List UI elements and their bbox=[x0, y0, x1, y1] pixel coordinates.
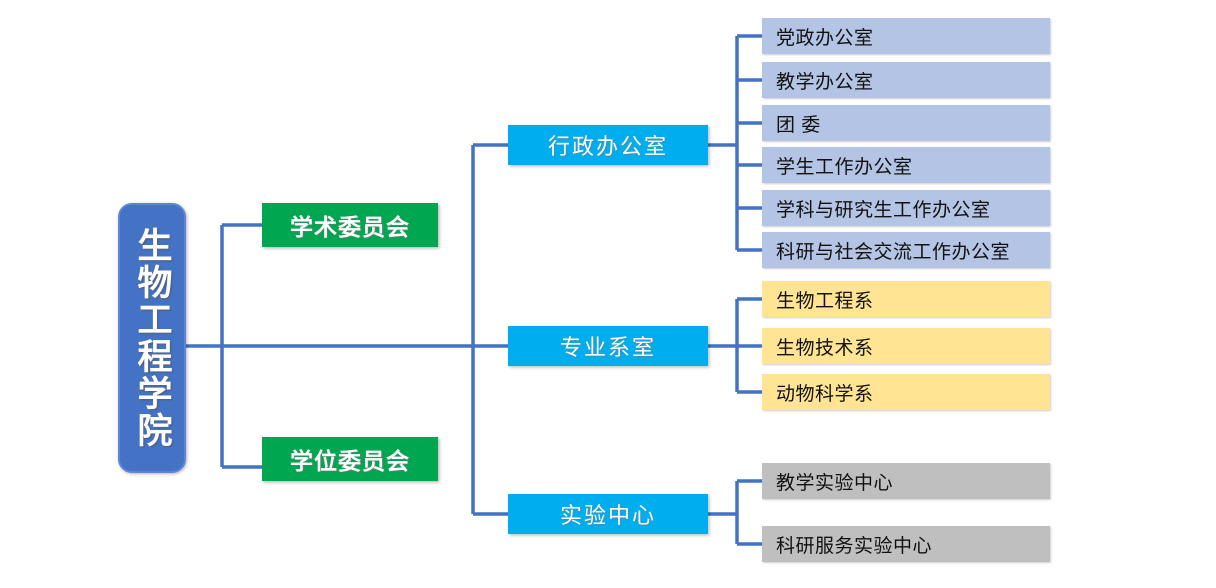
committee-node-degree-label: 学位委员会 bbox=[290, 442, 410, 476]
leaf-department-2[interactable]: 生物技术系 bbox=[762, 328, 1050, 364]
leaf-department-3-label: 动物科学系 bbox=[776, 379, 874, 406]
leaf-admin-6[interactable]: 科研与社会交流工作办公室 bbox=[762, 232, 1050, 268]
division-node-admin-office[interactable]: 行政办公室 bbox=[508, 125, 708, 165]
leaf-department-1-label: 生物工程系 bbox=[776, 286, 874, 313]
root-node-label: 生物工程学院 bbox=[135, 227, 170, 449]
leaf-lab-2-label: 科研服务实验中心 bbox=[776, 531, 932, 558]
leaf-department-2-label: 生物技术系 bbox=[776, 333, 874, 360]
leaf-admin-6-label: 科研与社会交流工作办公室 bbox=[776, 237, 1010, 264]
leaf-admin-3[interactable]: 团 委 bbox=[762, 105, 1050, 141]
leaf-lab-1-label: 教学实验中心 bbox=[776, 468, 893, 495]
org-chart-canvas: 生物工程学院 学术委员会 学位委员会 行政办公室 专业系室 实验中心 党政办公室… bbox=[0, 0, 1216, 588]
leaf-admin-5[interactable]: 学科与研究生工作办公室 bbox=[762, 190, 1050, 226]
leaf-department-1[interactable]: 生物工程系 bbox=[762, 281, 1050, 317]
committee-node-academic-label: 学术委员会 bbox=[290, 208, 410, 242]
root-node[interactable]: 生物工程学院 bbox=[118, 203, 186, 473]
division-node-departments-label: 专业系室 bbox=[560, 330, 656, 362]
division-node-lab-center-label: 实验中心 bbox=[560, 498, 656, 530]
leaf-admin-1[interactable]: 党政办公室 bbox=[762, 18, 1050, 54]
leaf-admin-2-label: 教学办公室 bbox=[776, 67, 874, 94]
leaf-admin-1-label: 党政办公室 bbox=[776, 23, 874, 50]
division-node-departments[interactable]: 专业系室 bbox=[508, 326, 708, 366]
division-node-lab-center[interactable]: 实验中心 bbox=[508, 494, 708, 534]
division-node-admin-office-label: 行政办公室 bbox=[548, 129, 668, 161]
leaf-admin-3-label: 团 委 bbox=[776, 110, 821, 137]
leaf-lab-2[interactable]: 科研服务实验中心 bbox=[762, 526, 1050, 562]
leaf-admin-4-label: 学生工作办公室 bbox=[776, 152, 913, 179]
leaf-admin-5-label: 学科与研究生工作办公室 bbox=[776, 195, 991, 222]
leaf-admin-2[interactable]: 教学办公室 bbox=[762, 62, 1050, 98]
committee-node-degree[interactable]: 学位委员会 bbox=[262, 437, 438, 481]
leaf-department-3[interactable]: 动物科学系 bbox=[762, 374, 1050, 410]
committee-node-academic[interactable]: 学术委员会 bbox=[262, 203, 438, 247]
leaf-admin-4[interactable]: 学生工作办公室 bbox=[762, 147, 1050, 183]
leaf-lab-1[interactable]: 教学实验中心 bbox=[762, 463, 1050, 499]
